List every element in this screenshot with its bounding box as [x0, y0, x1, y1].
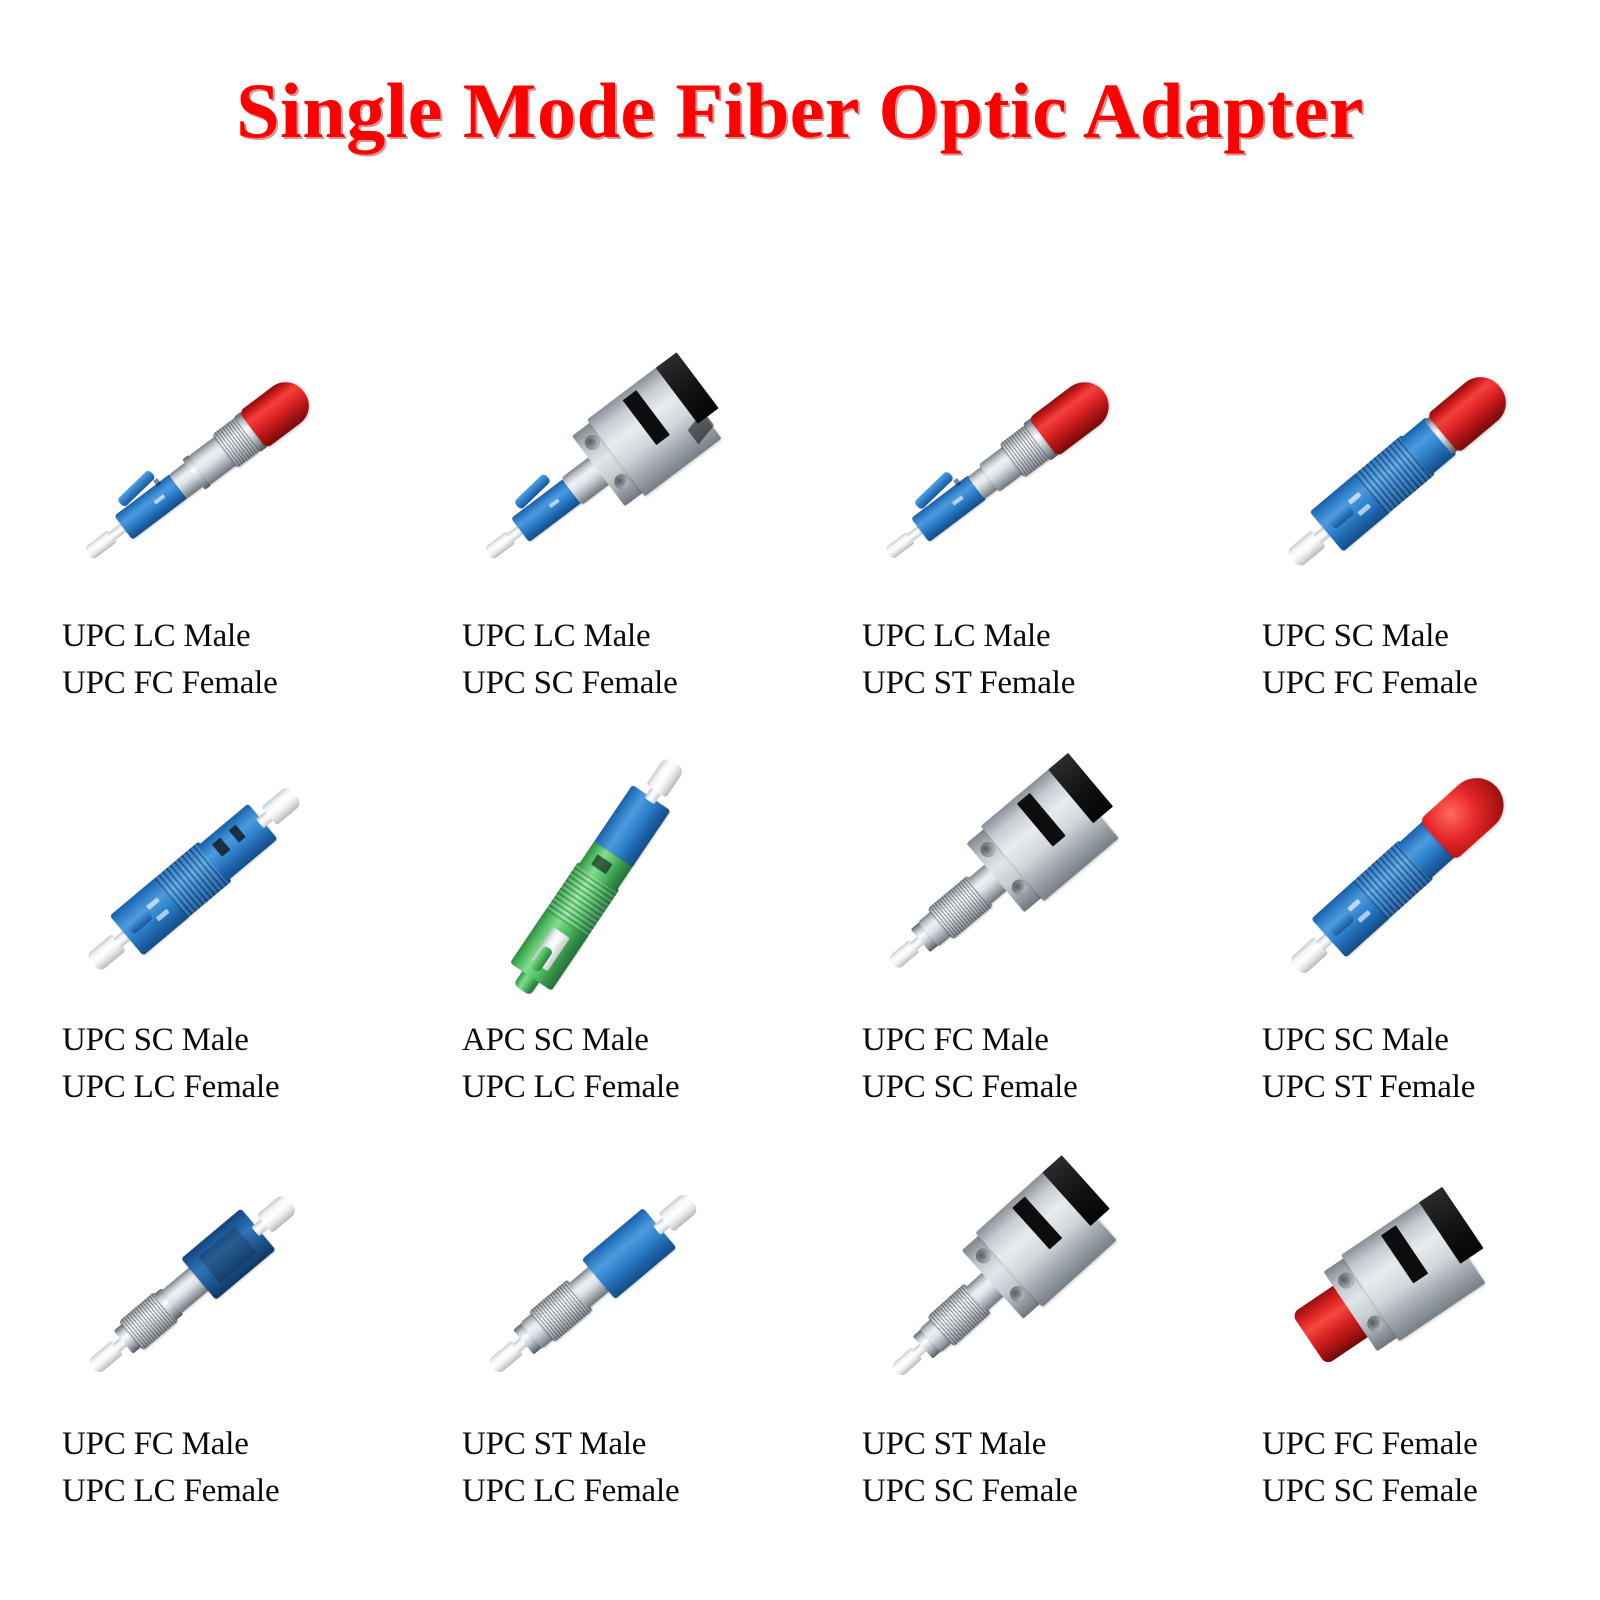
female-label: UPC SC Female [1262, 1468, 1478, 1515]
product-image-apc-sc-male-lc-female [400, 734, 800, 1014]
female-label: UPC SC Female [462, 660, 678, 707]
product-card-st-male-sc-female[interactable]: UPC ST Male UPC SC Female [800, 1138, 1200, 1542]
male-label: UPC LC Male [462, 613, 678, 660]
product-card-st-male-lc-female[interactable]: UPC ST Male UPC LC Female [400, 1138, 800, 1542]
product-caption: UPC FC Female UPC SC Female [1262, 1421, 1478, 1515]
male-label: UPC FC Male [62, 1421, 279, 1468]
product-caption: APC SC Male UPC LC Female [462, 1017, 679, 1111]
product-image-sc-male-fc-female [1200, 330, 1600, 610]
male-label: UPC LC Male [62, 613, 278, 660]
male-label: UPC ST Male [462, 1421, 679, 1468]
male-label: UPC FC Male [862, 1017, 1078, 1064]
product-card-fc-female-sc-female[interactable]: UPC FC Female UPC SC Female [1200, 1138, 1600, 1542]
product-card-sc-male-lc-female[interactable]: UPC SC Male UPC LC Female [0, 734, 400, 1138]
female-label: UPC ST Female [862, 660, 1075, 707]
male-label: UPC SC Male [62, 1017, 279, 1064]
male-label: UPC ST Male [862, 1421, 1078, 1468]
female-label: UPC SC Female [862, 1468, 1078, 1515]
female-label: UPC ST Female [1262, 1064, 1475, 1111]
product-card-lc-male-sc-female[interactable]: UPC LC Male UPC SC Female [400, 330, 800, 734]
product-caption: UPC LC Male UPC ST Female [862, 613, 1075, 707]
product-image-lc-male-sc-female [400, 330, 800, 610]
female-label: UPC LC Female [62, 1468, 279, 1515]
female-label: UPC LC Female [462, 1064, 679, 1111]
product-caption: UPC LC Male UPC SC Female [462, 613, 678, 707]
male-label: UPC SC Male [1262, 1017, 1475, 1064]
product-image-st-male-sc-female [800, 1138, 1200, 1418]
product-caption: UPC SC Male UPC FC Female [1262, 613, 1478, 707]
product-caption: UPC SC Male UPC ST Female [1262, 1017, 1475, 1111]
page-title: Single Mode Fiber Optic Adapter [0, 0, 1600, 150]
product-image-st-male-lc-female [400, 1138, 800, 1418]
product-image-lc-male-st-female [800, 330, 1200, 610]
product-image-sc-male-lc-female [0, 734, 400, 1014]
product-grid: UPC LC Male UPC FC Female [0, 330, 1600, 1542]
product-caption: UPC LC Male UPC FC Female [62, 613, 278, 707]
male-label: UPC FC Female [1262, 1421, 1478, 1468]
male-label: APC SC Male [462, 1017, 679, 1064]
product-card-lc-male-st-female[interactable]: UPC LC Male UPC ST Female [800, 330, 1200, 734]
product-image-lc-male-fc-female [0, 330, 400, 610]
product-image-sc-male-st-female [1200, 734, 1600, 1014]
product-image-fc-female-sc-female [1200, 1138, 1600, 1418]
female-label: UPC FC Female [1262, 660, 1478, 707]
female-label: UPC SC Female [862, 1064, 1078, 1111]
female-label: UPC LC Female [62, 1064, 279, 1111]
male-label: UPC SC Male [1262, 613, 1478, 660]
product-card-fc-male-lc-female[interactable]: UPC FC Male UPC LC Female [0, 1138, 400, 1542]
product-card-apc-sc-male-lc-female[interactable]: APC SC Male UPC LC Female [400, 734, 800, 1138]
product-card-sc-male-fc-female[interactable]: UPC SC Male UPC FC Female [1200, 330, 1600, 734]
female-label: UPC LC Female [462, 1468, 679, 1515]
product-card-lc-male-fc-female[interactable]: UPC LC Male UPC FC Female [0, 330, 400, 734]
product-caption: UPC SC Male UPC LC Female [62, 1017, 279, 1111]
product-image-fc-male-sc-female [800, 734, 1200, 1014]
product-card-sc-male-st-female[interactable]: UPC SC Male UPC ST Female [1200, 734, 1600, 1138]
female-label: UPC FC Female [62, 660, 278, 707]
male-label: UPC LC Male [862, 613, 1075, 660]
product-card-fc-male-sc-female[interactable]: UPC FC Male UPC SC Female [800, 734, 1200, 1138]
product-caption: UPC FC Male UPC LC Female [62, 1421, 279, 1515]
product-caption: UPC FC Male UPC SC Female [862, 1017, 1078, 1111]
product-image-fc-male-lc-female [0, 1138, 400, 1418]
product-caption: UPC ST Male UPC SC Female [862, 1421, 1078, 1515]
product-caption: UPC ST Male UPC LC Female [462, 1421, 679, 1515]
